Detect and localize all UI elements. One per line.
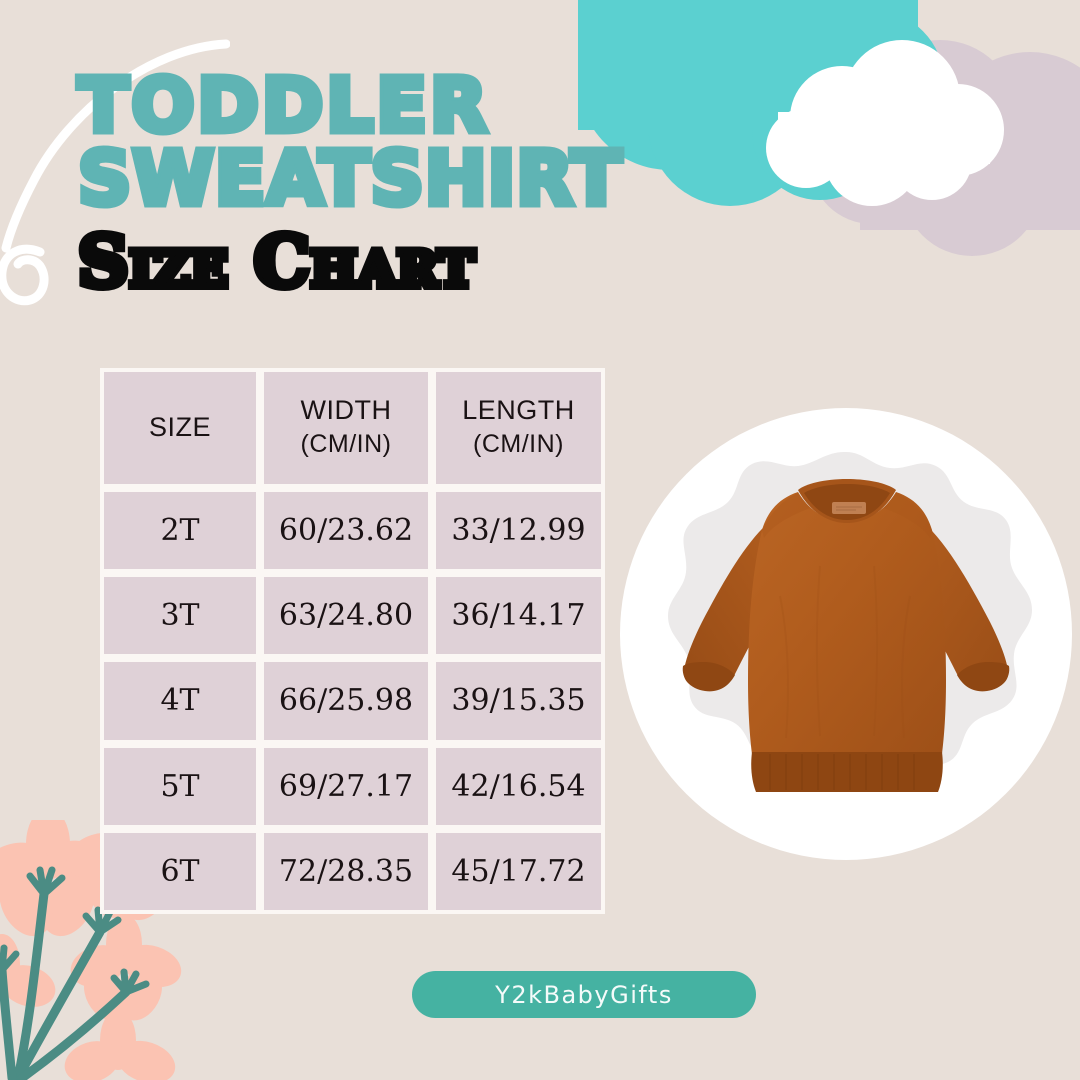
cell-size: 5T bbox=[100, 744, 260, 829]
cell-width: 60/23.62 bbox=[260, 488, 432, 573]
table-row: 5T 69/27.17 42/16.54 bbox=[100, 744, 605, 829]
shop-name-label: Y2kBabyGifts bbox=[495, 981, 673, 1009]
cell-length: 33/12.99 bbox=[432, 488, 605, 573]
table-row: 3T 63/24.80 36/14.17 bbox=[100, 573, 605, 658]
cloud-mauve-icon bbox=[810, 40, 1080, 256]
cell-size: 3T bbox=[100, 573, 260, 658]
column-header-length: LENGTH (CM/IN) bbox=[432, 368, 605, 488]
body bbox=[748, 492, 946, 754]
cell-length: 39/15.35 bbox=[432, 658, 605, 743]
size-chart-table: SIZE WIDTH (CM/IN) LENGTH (CM/IN) 2T 60/… bbox=[100, 368, 605, 914]
cloud-teal-icon bbox=[578, 0, 944, 206]
cell-length: 42/16.54 bbox=[432, 744, 605, 829]
cell-width: 69/27.17 bbox=[260, 744, 432, 829]
table-row: 6T 72/28.35 45/17.72 bbox=[100, 829, 605, 914]
cell-width: 72/28.35 bbox=[260, 829, 432, 914]
title-line-toddler: Toddler bbox=[78, 70, 622, 143]
cell-width: 66/25.98 bbox=[260, 658, 432, 743]
page-title-group: Toddler Sweatshirt Size Chart bbox=[78, 70, 622, 297]
table-row: 4T 66/25.98 39/15.35 bbox=[100, 658, 605, 743]
column-header-width: WIDTH (CM/IN) bbox=[260, 368, 432, 488]
loop-icon bbox=[2, 249, 44, 301]
cell-width: 63/24.80 bbox=[260, 573, 432, 658]
sweatshirt-image bbox=[670, 476, 1022, 806]
table-header-row: SIZE WIDTH (CM/IN) LENGTH (CM/IN) bbox=[100, 368, 605, 488]
flower-stems-icon bbox=[2, 894, 126, 1078]
size-chart-canvas: Toddler Sweatshirt Size Chart SIZE WIDTH… bbox=[0, 0, 1080, 1080]
cell-length: 45/17.72 bbox=[432, 829, 605, 914]
column-header-size: SIZE bbox=[100, 368, 260, 488]
cell-size: 2T bbox=[100, 488, 260, 573]
table-row: 2T 60/23.62 33/12.99 bbox=[100, 488, 605, 573]
title-line-sweatshirt: Sweatshirt bbox=[78, 143, 622, 216]
cloud-white-icon bbox=[766, 40, 1004, 206]
shop-name-badge[interactable]: Y2kBabyGifts bbox=[412, 971, 756, 1018]
product-image-medallion bbox=[620, 408, 1072, 860]
page-subtitle-size-chart: Size Chart bbox=[78, 227, 622, 297]
cell-length: 36/14.17 bbox=[432, 573, 605, 658]
cell-size: 6T bbox=[100, 829, 260, 914]
neck-label bbox=[832, 502, 866, 514]
cell-size: 4T bbox=[100, 658, 260, 743]
